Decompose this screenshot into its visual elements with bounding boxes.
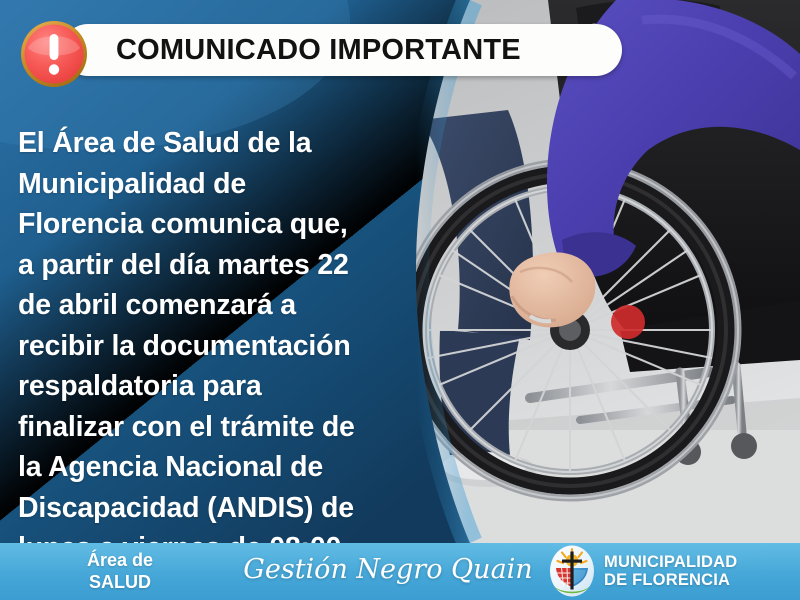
municipality-line1: MUNICIPALIDAD [604, 553, 737, 572]
municipality-line2: DE FLORENCIA [604, 571, 737, 590]
body-line: recibir la documentación [18, 326, 470, 367]
body-line: Discapacidad (ANDIS) de [18, 488, 470, 529]
municipality-logo: MUNICIPALIDAD DE FLORENCIA [549, 545, 737, 597]
area-salud-line2: SALUD [55, 571, 185, 593]
body-line: Florencia comunica que, [18, 204, 470, 245]
footer-bar: Área de SALUD Gestión Negro Quain [0, 543, 800, 600]
exclamation-circle-icon [18, 18, 90, 90]
header-pill: COMUNICADO IMPORTANTE [62, 24, 622, 76]
body-line: de abril comenzará a [18, 285, 470, 326]
body-line: la Agencia Nacional de [18, 447, 470, 488]
area-salud-label: Área de SALUD [55, 549, 185, 593]
municipality-name: MUNICIPALIDAD DE FLORENCIA [604, 553, 737, 590]
area-salud-line1: Área de [55, 549, 185, 571]
municipality-crest-icon [549, 545, 595, 597]
body-line: Municipalidad de [18, 164, 470, 205]
header-banner: COMUNICADO IMPORTANTE [18, 18, 622, 82]
body-line: El Área de Salud de la [18, 123, 470, 164]
announcement-body: El Área de Salud de la Municipalidad de … [18, 123, 470, 600]
page-title: COMUNICADO IMPORTANTE [116, 34, 521, 67]
announcement-poster: COMUNICADO IMPORTANTE [0, 0, 800, 600]
body-line: respaldatoria para [18, 366, 470, 407]
body-line: a partir del día martes 22 [18, 245, 470, 286]
gestion-signature: Gestión Negro Quain [243, 554, 533, 586]
body-line: finalizar con el trámite de [18, 407, 470, 448]
